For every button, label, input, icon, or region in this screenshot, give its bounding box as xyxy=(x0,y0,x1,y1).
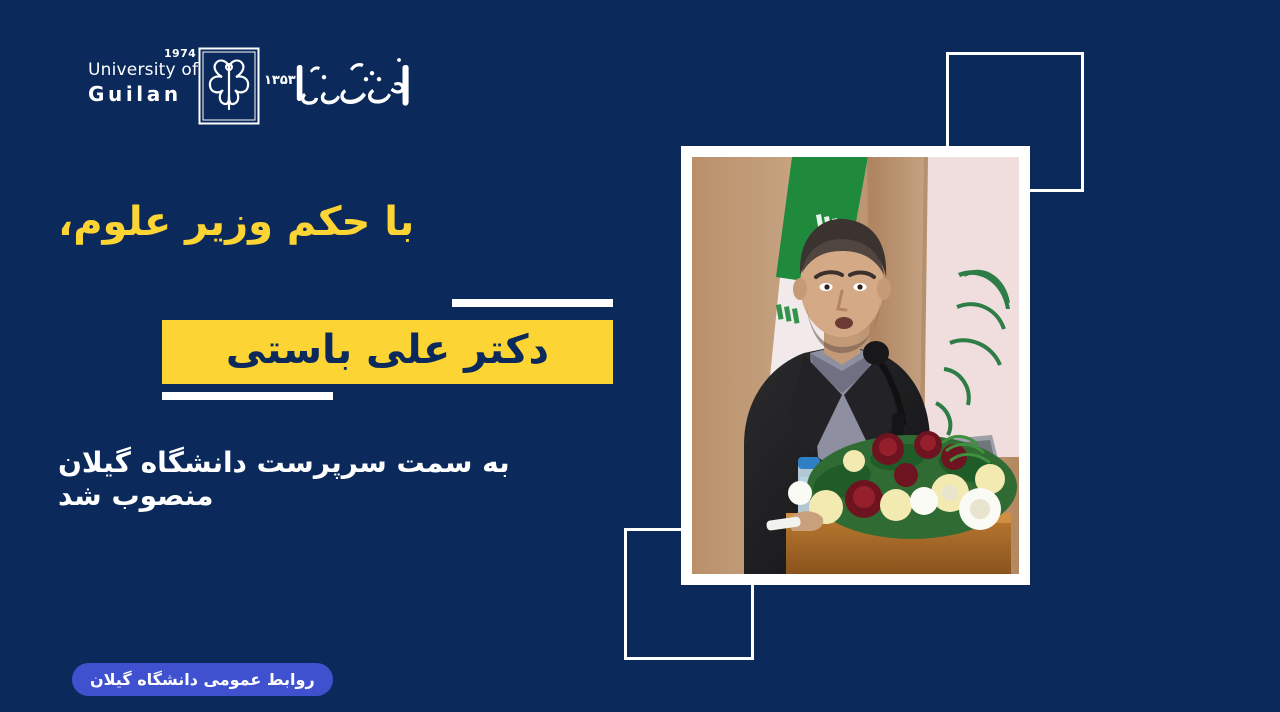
logo-year-solar: ۱۳۵۳ xyxy=(264,73,296,88)
university-logo: University of Guilan 1974 ۱۳۵۳ xyxy=(88,45,408,135)
headline-text: با حکم وزیر علوم، xyxy=(58,198,618,246)
speaker-photo xyxy=(692,157,1019,574)
photo-frame xyxy=(681,146,1030,585)
logo-persian-name xyxy=(294,51,412,127)
subline-text: به سمت سرپرست دانشگاه گیلان منصوب شد xyxy=(58,446,618,512)
accent-bar-bottom xyxy=(162,392,333,400)
name-highlight-band: دکتر علی باستی xyxy=(162,320,613,384)
logo-english-line1: University of xyxy=(88,59,194,81)
announcement-poster: University of Guilan 1974 ۱۳۵۳ xyxy=(0,0,1280,712)
public-relations-badge: روابط عمومی دانشگاه گیلان xyxy=(72,663,333,696)
accent-bar-top xyxy=(452,299,613,307)
guilan-university-emblem-icon xyxy=(198,47,260,125)
logo-year-gregorian: 1974 xyxy=(164,47,196,60)
logo-english-text: University of Guilan xyxy=(88,59,194,107)
person-name: دکتر علی باستی xyxy=(226,330,549,374)
logo-english-line2: Guilan xyxy=(88,81,194,107)
